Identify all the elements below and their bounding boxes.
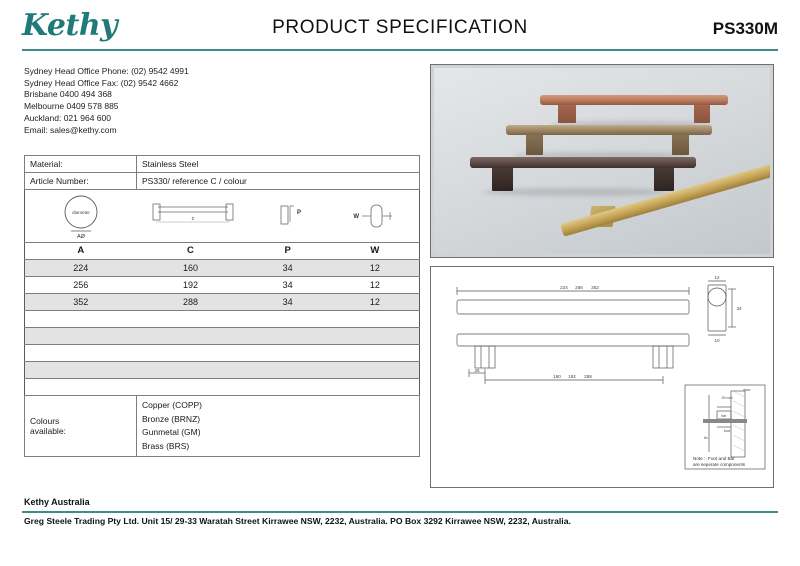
drawing-dim-centre-1: 160 [553, 374, 561, 379]
page-title: PRODUCT SPECIFICATION [22, 17, 778, 39]
cell-p: 34 [244, 260, 330, 277]
technical-drawing: 224 256 352 160 192 288 26 12 34 10 25 m… [430, 266, 774, 488]
contact-block: Sydney Head Office Phone: (02) 9542 4991… [24, 66, 189, 136]
drawing-dim-end-top: 12 [714, 275, 720, 280]
table-header-row: A C P W [25, 243, 420, 260]
drawing-dim-centre-2: 192 [568, 374, 576, 379]
diameter-icon-caption: AØ [77, 234, 86, 240]
drawing-dim-top-3: 352 [591, 285, 599, 290]
product-code: PS330M [713, 19, 778, 39]
article-label: Article Number: [25, 173, 137, 190]
projection-icon: P [249, 190, 335, 242]
diameter-icon-inner-label: diameter [72, 210, 90, 215]
width-icon-label: W [353, 214, 359, 220]
drawing-detail-dim-2: 6x [704, 436, 708, 440]
drawing-dim-top-1: 224 [560, 285, 568, 290]
drawing-dim-end-height: 34 [736, 306, 742, 311]
cell-c: 192 [137, 277, 245, 294]
drawing-dim-top-2: 256 [575, 285, 583, 290]
table-row-colours: Colours available: Copper (COPP) Bronze … [25, 396, 420, 457]
drawing-dim-foot: 26 [474, 368, 480, 373]
handle-foot [558, 104, 576, 123]
cell-a: 352 [25, 294, 137, 311]
article-value: PS330/ reference C / colour [137, 173, 420, 190]
contact-line: Sydney Head Office Fax: (02) 9542 4662 [24, 78, 189, 90]
table-row: 224 160 34 12 [25, 260, 420, 277]
cell-c: 288 [137, 294, 245, 311]
page-header: Kethy PRODUCT SPECIFICATION PS330M [22, 8, 778, 52]
colour-option: Gunmetal (GM) [142, 426, 414, 440]
drawing-note-line1: Note :- Foot and Bar [693, 456, 735, 461]
table-row-empty [25, 362, 420, 379]
handle-bar-bronze [506, 125, 712, 135]
table-row-empty [25, 379, 420, 396]
table-row-dimension-icons: diameter AØ c [25, 190, 420, 243]
handle-foot [694, 104, 710, 123]
drawing-dim-centre-3: 288 [584, 374, 592, 379]
colours-label: Colours available: [25, 396, 137, 457]
table-row-material: Material: Stainless Steel [25, 156, 420, 173]
contact-line: Sydney Head Office Phone: (02) 9542 4991 [24, 66, 189, 78]
table-row-empty [25, 345, 420, 362]
colours-label-line2: available: [30, 426, 131, 436]
drawing-detail-label-foot: foot [724, 429, 730, 433]
drawing-note-line2: are seperate components [693, 462, 746, 467]
handle-foot [672, 134, 689, 155]
column-header-a: A [25, 243, 137, 260]
handle-bar-copper [540, 95, 728, 105]
contact-line: Email: sales@kethy.com [24, 125, 189, 137]
handle-bar-gunmetal [470, 157, 696, 168]
cell-p: 34 [244, 294, 330, 311]
cell-w: 12 [331, 277, 420, 294]
cell-p: 34 [244, 277, 330, 294]
cell-w: 12 [331, 294, 420, 311]
product-photo-image [434, 68, 770, 254]
footer-address: Greg Steele Trading Pty Ltd. Unit 15/ 29… [24, 516, 571, 526]
colour-option: Brass (BRS) [142, 440, 414, 454]
contact-line: Melbourne 0409 578 885 [24, 101, 189, 113]
handle-foot [654, 167, 674, 191]
colours-values: Copper (COPP) Bronze (BRNZ) Gunmetal (GM… [137, 396, 420, 457]
colour-option: Bronze (BRNZ) [142, 413, 414, 427]
cell-a: 256 [25, 277, 137, 294]
cell-a: 224 [25, 260, 137, 277]
column-header-p: P [244, 243, 330, 260]
length-icon: c [137, 190, 249, 242]
column-header-w: W [331, 243, 420, 260]
table-row-empty [25, 328, 420, 345]
colour-option: Copper (COPP) [142, 399, 414, 413]
cell-w: 12 [331, 260, 420, 277]
drawing-dim-end-base: 10 [714, 338, 720, 343]
header-divider [22, 49, 778, 51]
diameter-icon: diameter AØ [25, 190, 137, 242]
contact-line: Auckland: 021 964 600 [24, 113, 189, 125]
product-photo [430, 64, 774, 258]
technical-drawing-svg: 224 256 352 160 192 288 26 12 34 10 25 m… [431, 267, 775, 489]
cell-c: 160 [137, 260, 245, 277]
length-icon-label: c [192, 216, 195, 222]
drawing-detail-dim-1: 25 mm [722, 396, 733, 400]
width-icon: W [335, 190, 419, 242]
table-row: 256 192 34 12 [25, 277, 420, 294]
handle-foot [492, 167, 513, 191]
column-header-c: C [137, 243, 245, 260]
table-row: 352 288 34 12 [25, 294, 420, 311]
material-value: Stainless Steel [137, 156, 420, 173]
drawing-detail-label-bar: bar [721, 414, 727, 418]
handle-foot [526, 134, 543, 155]
colours-label-line1: Colours [30, 416, 131, 426]
table-row-article: Article Number: PS330/ reference C / col… [25, 173, 420, 190]
projection-icon-label: P [297, 210, 301, 216]
footer-divider [22, 511, 778, 513]
footer-company: Kethy Australia [24, 497, 90, 507]
contact-line: Brisbane 0400 494 368 [24, 89, 189, 101]
material-label: Material: [25, 156, 137, 173]
table-row-empty [25, 311, 420, 328]
drawing-detail-label-door: door [743, 388, 751, 392]
specification-table: Material: Stainless Steel Article Number… [24, 155, 420, 457]
